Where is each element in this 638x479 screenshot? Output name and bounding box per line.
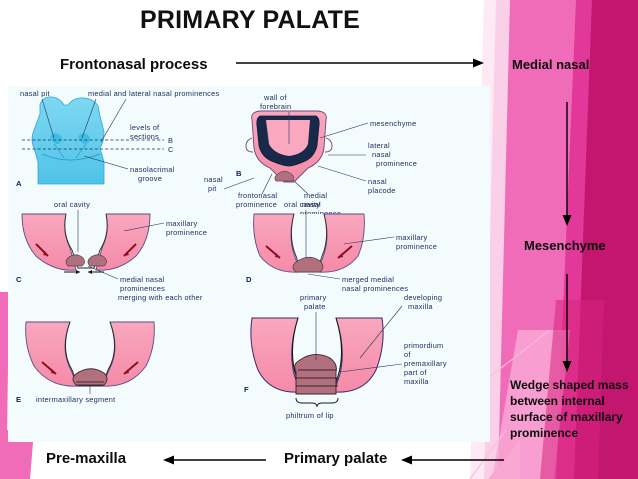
panel-c-label-oral-cavity: oral cavity: [54, 200, 90, 209]
arrow-frontonasal-to-medial-nasal: [232, 52, 488, 74]
panel-a-label-sections: sections: [130, 132, 159, 141]
panel-a-label-b: B: [168, 136, 173, 145]
panel-c-letter: C: [16, 275, 22, 284]
panel-b-label-forebrain: forebrain: [260, 102, 291, 111]
bottom-right-wedge: [488, 440, 520, 479]
panel-b-letter: B: [236, 169, 242, 178]
panel-b-label-wall-of: wall of: [263, 93, 287, 102]
callout-medial-nasal: Medial nasal: [512, 57, 589, 72]
arrow-wedge-to-primary-palate: [398, 450, 508, 470]
arrow-mesenchyme-to-wedge: [556, 272, 578, 374]
panel-a-label-levels: levels of: [130, 123, 160, 132]
panel-a-label-nasolacrimal: nasolacrimal: [130, 165, 175, 174]
panel-f-label-premaxillary: premaxillary: [404, 359, 447, 368]
panel-a-label-medial-lateral: medial and lateral nasal prominences: [88, 89, 219, 98]
panel-f-label-primary: primary: [300, 293, 326, 302]
panel-d-label-merged: merged medial: [342, 275, 394, 284]
panel-a-label-nasal-pit: nasal pit: [20, 89, 50, 98]
callout-frontonasal-process: Frontonasal process: [60, 56, 208, 74]
panel-d-label-oral-cavity: oral cavity: [284, 200, 320, 209]
panel-b-label-frontonasal: frontonasal: [238, 191, 277, 200]
panel-b-label-lateral: lateral: [368, 141, 390, 150]
panel-d-label-prominence: prominence: [396, 242, 437, 251]
panel-c-label-medial-nasal: medial nasal: [120, 275, 165, 284]
arrow-primary-palate-to-pre-maxilla: [160, 450, 270, 470]
page-title: PRIMARY PALATE: [0, 6, 500, 35]
panel-a-face: [32, 97, 104, 184]
panel-f-label-of: of: [404, 350, 411, 359]
panel-d-label-merged-2: nasal prominences: [342, 284, 408, 293]
panel-e-letter: E: [16, 395, 21, 404]
panel-f-label-developing: developing: [404, 293, 442, 302]
callout-primary-palate: Primary palate: [284, 450, 387, 468]
panel-f-label-palate: palate: [304, 302, 326, 311]
arrow-medial-nasal-to-mesenchyme: [556, 100, 578, 228]
panel-b-label-mesenchyme: mesenchyme: [370, 119, 416, 128]
panel-a-letter: A: [16, 179, 22, 188]
panel-b-label-pit: pit: [208, 184, 217, 193]
panel-a-label-c: C: [168, 145, 174, 154]
embryology-figure: nasal pit medial and lateral nasal promi…: [8, 86, 490, 442]
callout-mesenchyme: Mesenchyme: [524, 238, 606, 253]
panel-f-primary-palate: [295, 354, 337, 394]
panel-f-letter: F: [244, 385, 249, 394]
panel-d-label-maxillary: maxillary: [396, 233, 427, 242]
panel-c-label-prominences: prominences: [120, 284, 165, 293]
panel-f-label-maxilla-2: maxilla: [404, 377, 429, 386]
panel-b-label-prominence-1: prominence: [376, 159, 417, 168]
panel-c-label-prominence: prominence: [166, 228, 207, 237]
panel-e-label-intermaxillary: intermaxillary segment: [36, 395, 115, 404]
panel-b-label-placode: placode: [368, 186, 396, 195]
panel-c-label-merging: merging with each other: [118, 293, 203, 302]
panel-f-label-maxilla-1: maxilla: [408, 302, 433, 311]
panel-a-label-groove: groove: [138, 174, 162, 183]
panel-b-label-nasal-3: nasal: [204, 175, 223, 184]
panel-f-label-primordium: primordium: [404, 341, 443, 350]
panel-f-label-philtrum: philtrum of lip: [286, 411, 334, 420]
panel-b-label-nasal-1: nasal: [372, 150, 391, 159]
panel-d-letter: D: [246, 275, 252, 284]
panel-b-label-prominence-2: prominence: [236, 200, 277, 209]
panel-b-label-medial: medial: [304, 191, 327, 200]
callout-pre-maxilla: Pre-maxilla: [46, 450, 126, 468]
panel-c-label-maxillary: maxillary: [166, 219, 197, 228]
panel-f-label-part-of: part of: [404, 368, 427, 377]
panel-b-label-nasal-2: nasal: [368, 177, 387, 186]
callout-wedge-shaped-mass: Wedge shaped mass between internal surfa…: [510, 378, 632, 442]
left-strip-pale: [0, 436, 10, 479]
slide-canvas: PRIMARY PALATE: [0, 0, 638, 479]
